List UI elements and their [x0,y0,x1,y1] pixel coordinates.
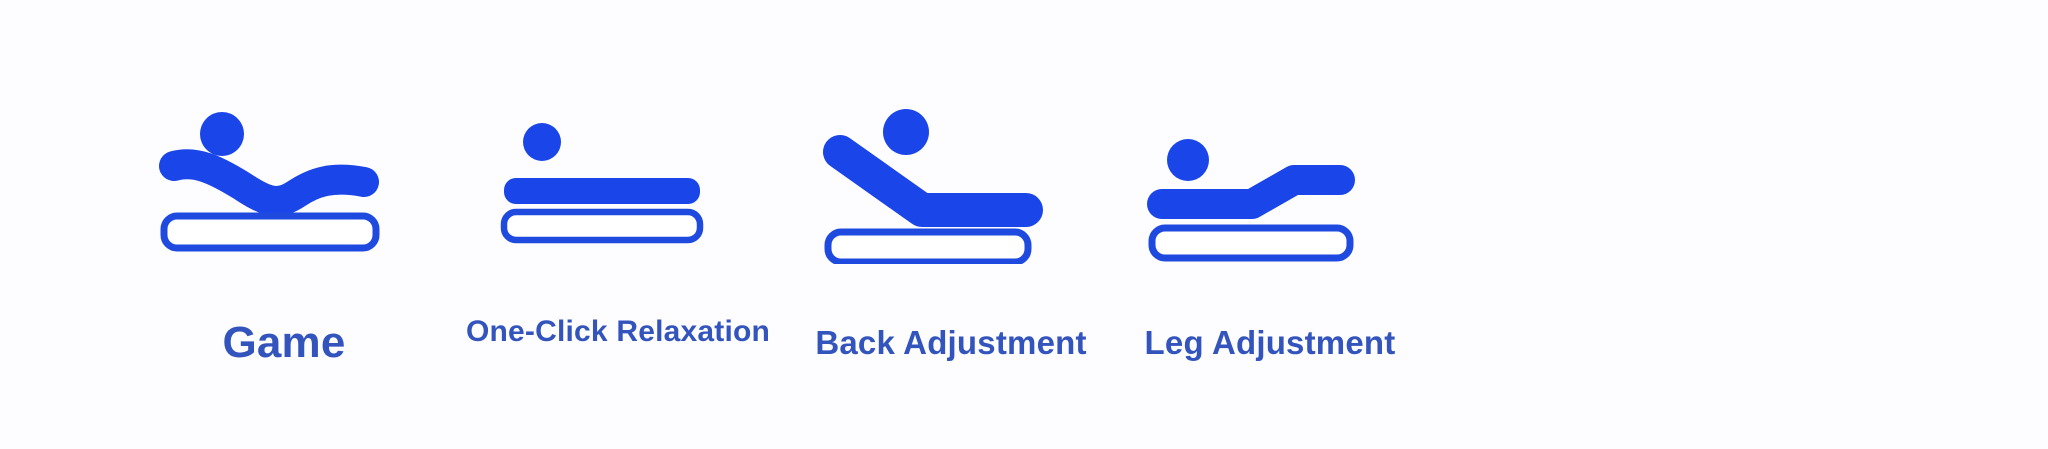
feature-card-one-click-relaxation[interactable]: One-Click Relaxation [494,104,742,347]
feature-row: Game One-Click Relaxation [0,0,2048,449]
feature-label-one-click-relaxation: One-Click Relaxation [466,317,770,347]
feature-card-game[interactable]: Game [150,104,418,365]
bed-back-raised-icon[interactable] [818,104,1084,269]
feature-card-leg-adjustment[interactable]: Leg Adjustment [1144,104,1396,359]
feature-label-back-adjustment: Back Adjustment [815,326,1086,359]
bed-flat-icon[interactable] [494,104,742,249]
feature-icons-screen: Game One-Click Relaxation [0,0,2048,449]
feature-label-game: Game [222,321,345,365]
bed-legs-raised-icon[interactable] [1144,104,1396,269]
feature-card-back-adjustment[interactable]: Back Adjustment [818,104,1084,359]
bed-zero-gravity-wave-icon[interactable] [150,104,418,269]
feature-label-leg-adjustment: Leg Adjustment [1145,326,1396,359]
